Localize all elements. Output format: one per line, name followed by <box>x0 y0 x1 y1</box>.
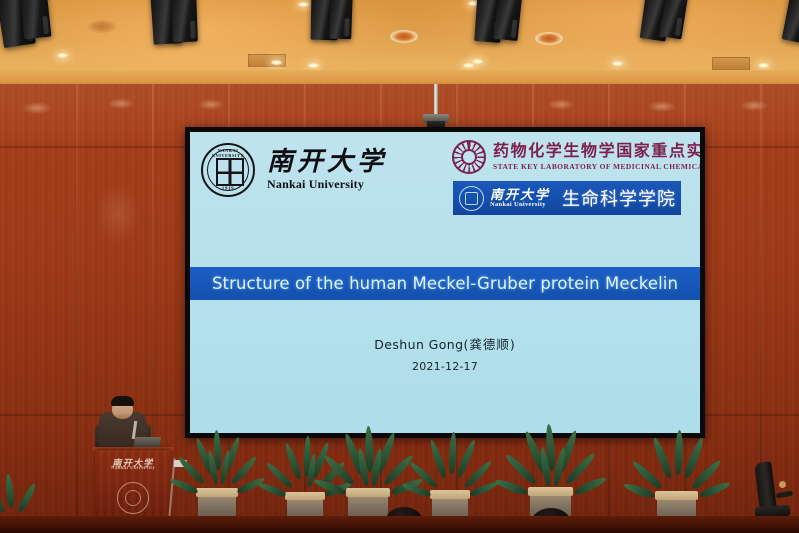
plant-pot-rim <box>285 492 325 500</box>
lecture-hall-photo: NANKAI UNIVERSITY 1919 南开大学 Nankai Unive… <box>0 0 799 533</box>
wall-light-reflection <box>198 99 224 110</box>
potted-plant <box>421 432 479 524</box>
plant-pot-rim <box>196 488 238 497</box>
ceiling-downlight-icon <box>298 2 309 7</box>
presenter-line: Deshun Gong(龚德顺) <box>190 334 700 353</box>
slide-title-band: Structure of the human Meckel-Gruber pro… <box>190 267 700 300</box>
plant-pot-rim <box>528 487 573 496</box>
banner-college-cn: 生命科学学院 <box>562 185 676 211</box>
wall-light-reflection <box>648 101 676 112</box>
projection-screen-frame: NANKAI UNIVERSITY 1919 南开大学 Nankai Unive… <box>185 127 705 438</box>
projector-mount-pole <box>434 84 438 116</box>
banner-university-cn: 南开大学 <box>490 188 550 202</box>
ceiling-rosette-icon <box>535 32 563 45</box>
podium-seal-icon <box>117 482 149 514</box>
seal-top-text: NANKAI UNIVERSITY <box>203 148 253 158</box>
nankai-wordmark: 南开大学 Nankai University <box>267 148 387 191</box>
nankai-seal-small-icon <box>459 186 484 211</box>
gear-icon <box>452 140 486 174</box>
talk-date: 2021-12-17 <box>190 360 700 373</box>
seal-emblem-icon <box>216 158 244 186</box>
projection-screen: NANKAI UNIVERSITY 1919 南开大学 Nankai Unive… <box>190 132 700 433</box>
potted-plant <box>337 426 399 524</box>
nankai-name-cn: 南开大学 <box>267 148 387 175</box>
nankai-name-en: Nankai University <box>267 177 387 192</box>
state-key-lab-wordmark: 药物化学生物学国家重点实验室 STATE KEY LABORATORY OF M… <box>493 143 700 171</box>
wall-light-reflection <box>548 99 574 110</box>
plant-pot-rim <box>655 491 698 500</box>
ceiling-downlight-icon <box>271 60 282 65</box>
hanging-speaker-icon <box>782 0 799 44</box>
ceiling-rosette-icon <box>88 20 116 33</box>
plant-leaf <box>674 430 684 475</box>
plant-leaf <box>283 442 303 480</box>
slide-header: NANKAI UNIVERSITY 1919 南开大学 Nankai Unive… <box>190 132 700 240</box>
ceiling-downlight-icon <box>758 63 769 68</box>
hanging-speaker-icon <box>494 0 523 41</box>
presenter-name-cn: (龚德顺) <box>463 337 515 352</box>
nankai-seal-icon: NANKAI UNIVERSITY 1919 <box>201 143 255 197</box>
wall-light-reflection <box>96 184 140 244</box>
wall-light-reflection <box>22 102 52 114</box>
presenter-name-en: Deshun Gong <box>374 337 463 352</box>
ceiling-downlight-icon <box>308 63 319 68</box>
lab-name-en: STATE KEY LABORATORY OF MEDICINAL CHEMIC… <box>493 162 700 171</box>
ceiling-rosette-icon <box>390 30 418 43</box>
plant-pot-rim <box>346 488 390 497</box>
ceiling-downlight-icon <box>472 59 483 64</box>
wall-panel-seam <box>76 84 78 533</box>
ceiling-downlight-icon <box>57 53 68 58</box>
banner-university-wordmark: 南开大学 Nankai University <box>490 188 550 209</box>
ceiling-downlight-icon <box>612 61 623 66</box>
potted-plant <box>645 430 707 526</box>
state-key-lab-logo: 药物化学生物学国家重点实验室 STATE KEY LABORATORY OF M… <box>452 140 700 174</box>
seal-year-text: 1919 <box>203 187 253 192</box>
ceiling <box>0 0 799 86</box>
hanging-speaker-icon <box>329 0 353 39</box>
plant-leaf <box>428 439 448 479</box>
hanging-speaker-icon <box>171 0 198 42</box>
stage-floor-edge <box>0 516 799 533</box>
slide-title: Structure of the human Meckel-Gruber pro… <box>212 274 678 293</box>
potted-plant <box>189 430 245 522</box>
hanging-speaker-icon <box>660 0 689 39</box>
glasses-icon <box>114 405 131 410</box>
lab-name-cn: 药物化学生物学国家重点实验室 <box>493 143 700 161</box>
plant-pot-rim <box>430 490 470 499</box>
ceiling-vent <box>712 57 750 70</box>
wall-light-reflection <box>108 98 134 109</box>
nankai-university-logo: NANKAI UNIVERSITY 1919 南开大学 Nankai Unive… <box>201 143 387 197</box>
plant-leaf <box>448 432 457 474</box>
wall-light-reflection <box>740 100 768 111</box>
life-sciences-college-banner: 南开大学 Nankai University 生命科学学院 <box>453 181 681 215</box>
banner-university-en: Nankai University <box>490 201 550 208</box>
plant-leaf <box>651 436 674 479</box>
chair-knob <box>779 481 786 488</box>
plant-leaf <box>4 474 15 509</box>
ceiling-downlight-icon <box>463 63 474 68</box>
hanging-speaker-icon <box>20 0 52 39</box>
podium-name-en: Nankai University <box>95 466 171 471</box>
